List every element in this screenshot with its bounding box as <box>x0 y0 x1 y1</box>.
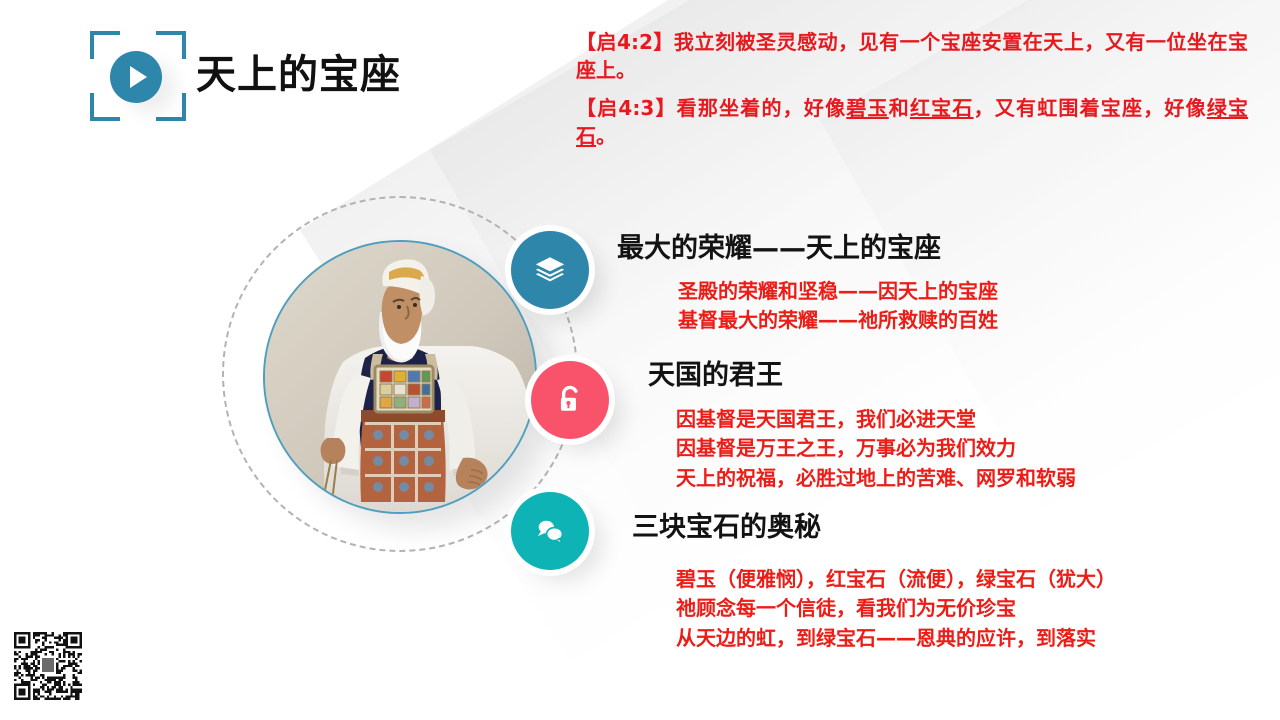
unlock-icon <box>531 361 609 439</box>
slide-canvas: 天上的宝座 【启4:2】我立刻被圣灵感动，见有一个宝座安置在天上，又有一位坐在宝… <box>0 0 1280 720</box>
body-line: 天上的祝福，必胜过地上的苦难、网罗和软弱 <box>676 464 1076 493</box>
section-body: 圣殿的荣耀和坚稳——因天上的宝座 基督最大的荣耀——祂所救赎的百姓 <box>678 277 998 336</box>
qr-code-image <box>14 632 82 700</box>
scripture-text-2: 看那坐着的，好像碧玉和红宝石，又有虹围着宝座，好像绿宝石。 <box>576 96 1248 148</box>
body-line: 圣殿的荣耀和坚稳——因天上的宝座 <box>678 277 998 306</box>
play-button-icon <box>110 51 162 103</box>
scripture-underlined-term: 碧玉 <box>846 96 888 120</box>
layers-icon <box>511 231 589 309</box>
scripture-text-1: 我立刻被圣灵感动，见有一个宝座安置在天上，又有一位坐在宝座上。 <box>576 30 1248 82</box>
chat-bubbles-icon <box>511 492 589 570</box>
section-title: 三块宝石的奥秘 <box>632 505 821 544</box>
qr-code[interactable] <box>14 632 82 700</box>
scripture-verse-2: 【启4:3】看那坐着的，好像碧玉和红宝石，又有虹围着宝座，好像绿宝石。 <box>576 94 1248 151</box>
body-line: 祂顾念每一个信徒，看我们为无价珍宝 <box>676 594 1116 623</box>
section-body: 碧玉（便雅悯），红宝石（流便），绿宝石（犹大） 祂顾念每一个信徒，看我们为无价珍… <box>676 565 1116 653</box>
scripture-verse-1: 【启4:2】我立刻被圣灵感动，见有一个宝座安置在天上，又有一位坐在宝座上。 <box>576 28 1248 85</box>
body-line: 从天边的虹，到绿宝石——恩典的应许，到落实 <box>676 624 1116 653</box>
page-title: 天上的宝座 <box>196 42 401 100</box>
high-priest-portrait <box>263 240 537 514</box>
body-line: 因基督是万王之王，万事必为我们效力 <box>676 434 1076 463</box>
section-title: 天国的君王 <box>648 353 783 392</box>
slide-logo <box>90 31 186 121</box>
section-title: 最大的荣耀——天上的宝座 <box>617 226 941 265</box>
scripture-ref-2: 【启4:3】 <box>576 96 677 120</box>
scripture-underlined-term: 红宝石 <box>910 96 974 120</box>
body-line: 基督最大的荣耀——祂所救赎的百姓 <box>678 306 998 335</box>
body-line: 因基督是天国君王，我们必进天堂 <box>676 405 1076 434</box>
high-priest-illustration <box>265 242 535 512</box>
section-body: 因基督是天国君王，我们必进天堂 因基督是万王之王，万事必为我们效力 天上的祝福，… <box>676 405 1076 493</box>
scripture-ref-1: 【启4:2】 <box>576 30 674 54</box>
body-line: 碧玉（便雅悯），红宝石（流便），绿宝石（犹大） <box>676 565 1116 594</box>
scripture-block: 【启4:2】我立刻被圣灵感动，见有一个宝座安置在天上，又有一位坐在宝座上。 【启… <box>576 28 1248 160</box>
